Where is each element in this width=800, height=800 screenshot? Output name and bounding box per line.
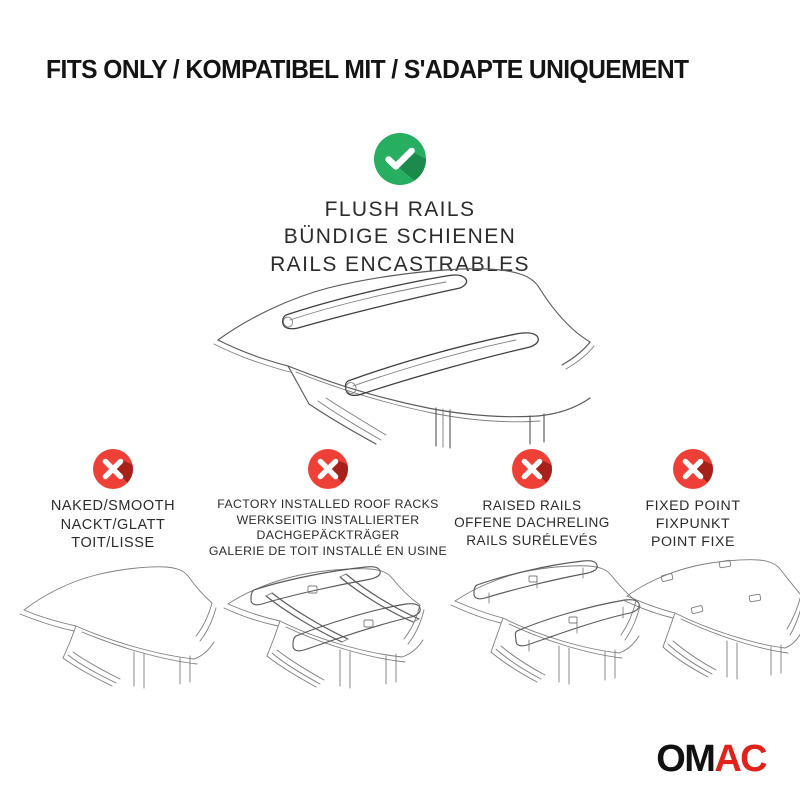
label-de: FIXPUNKT (613, 515, 773, 533)
incompatible-item-factory-roof-racks: FACTORY INSTALLED ROOF RACKS WERKSEITIG … (208, 448, 448, 560)
logo-text-ac: AC (714, 738, 766, 780)
cross-circle-icon (511, 448, 553, 490)
compatible-label-en: FLUSH RAILS (0, 196, 800, 223)
logo-text-om: OM (656, 738, 714, 780)
incompatible-item-fixed-point: FIXED POINT FIXPUNKT POINT FIXE (613, 448, 773, 552)
label-en: FIXED POINT (613, 497, 773, 515)
label-de: NACKT/GLATT (8, 516, 218, 535)
label-en: NAKED/SMOOTH (8, 497, 218, 516)
car-roof-raised-rails-illustration (437, 551, 627, 691)
compatible-label-de: BÜNDIGE SCHIENEN (0, 223, 800, 250)
incompatible-labels: FACTORY INSTALLED ROOF RACKS WERKSEITIG … (208, 497, 448, 560)
incompatible-labels: NAKED/SMOOTH NACKT/GLATT TOIT/LISSE (8, 497, 218, 553)
cross-circle-icon (307, 448, 349, 490)
compatibility-infographic: FITS ONLY / KOMPATIBEL MIT / S'ADAPTE UN… (0, 0, 800, 800)
label-de-2: DACHGEPÄCKTRÄGER (208, 528, 448, 544)
page-title: FITS ONLY / KOMPATIBEL MIT / S'ADAPTE UN… (46, 56, 741, 85)
incompatible-section: NAKED/SMOOTH NACKT/GLATT TOIT/LISSE (0, 448, 800, 748)
car-roof-fixed-point-illustration (613, 548, 773, 688)
label-en: FACTORY INSTALLED ROOF RACKS (208, 497, 448, 513)
incompatible-item-raised-rails: RAISED RAILS OFFENE DACHRELING RAILS SUR… (437, 448, 627, 549)
label-fr: RAILS SURÉLEVÉS (437, 532, 627, 549)
cross-circle-icon (672, 448, 714, 490)
label-fr: GALERIE DE TOIT INSTALLÉ EN USINE (208, 544, 448, 560)
cross-circle-icon (92, 448, 134, 490)
check-circle-icon (373, 132, 427, 186)
compatible-section: FLUSH RAILS BÜNDIGE SCHIENEN RAILS ENCAS… (0, 132, 800, 278)
car-roof-with-flush-rails-illustration (178, 258, 638, 448)
car-roof-naked-smooth-illustration (8, 548, 218, 688)
incompatible-item-naked-smooth: NAKED/SMOOTH NACKT/GLATT TOIT/LISSE (8, 448, 218, 553)
car-roof-factory-roof-racks-illustration (208, 560, 448, 700)
label-en: RAISED RAILS (437, 497, 627, 514)
label-de-1: WERKSEITIG INSTALLIERTER (208, 513, 448, 529)
omac-logo: OMAC (656, 740, 766, 778)
incompatible-labels: RAISED RAILS OFFENE DACHRELING RAILS SUR… (437, 497, 627, 549)
label-de: OFFENE DACHRELING (437, 514, 627, 531)
incompatible-labels: FIXED POINT FIXPUNKT POINT FIXE (613, 497, 773, 552)
